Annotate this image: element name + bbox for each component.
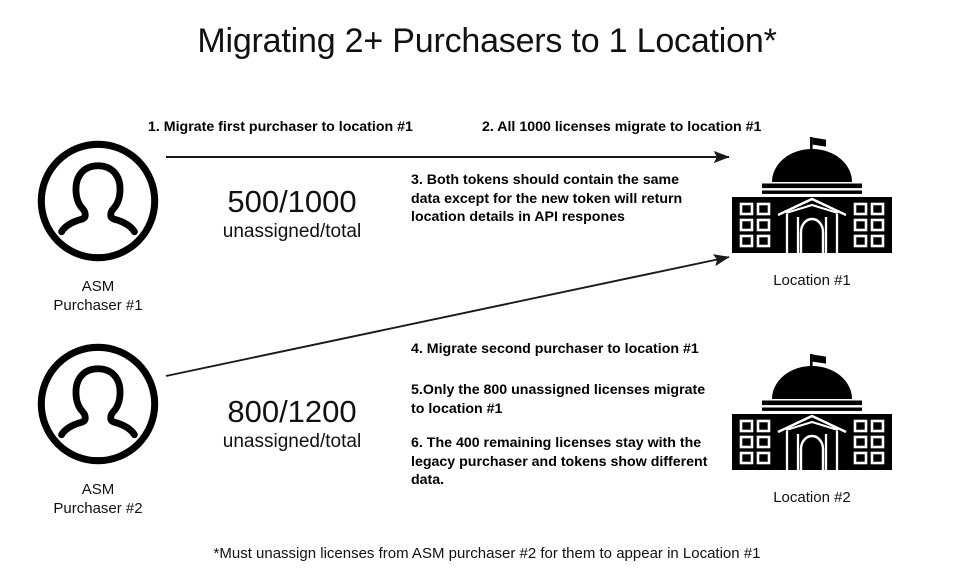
step-3-label: 3. Both tokens should contain the same d…	[411, 171, 696, 227]
diagram-canvas: Migrating 2+ Purchasers to 1 Location* A…	[0, 0, 974, 587]
purchaser-1-license-counts: 500/1000 unassigned/total	[192, 184, 392, 244]
location-2-node: Location #2	[722, 352, 902, 507]
location-1-node: Location #1	[722, 135, 902, 290]
footnote: *Must unassign licenses from ASM purchas…	[0, 545, 974, 562]
government-building-icon	[722, 352, 902, 474]
purchaser-1-node: ASM Purchaser #1	[31, 138, 165, 315]
purchaser-2-label: ASM Purchaser #2	[31, 480, 165, 518]
step-4-label: 4. Migrate second purchaser to location …	[411, 340, 699, 359]
purchaser-1-counts-caption: unassigned/total	[192, 220, 392, 244]
purchaser-1-label: ASM Purchaser #1	[31, 277, 165, 315]
step-5-label: 5.Only the 800 unassigned licenses migra…	[411, 381, 711, 418]
purchaser-1-counts-value: 500/1000	[192, 184, 392, 220]
government-building-icon	[722, 135, 902, 257]
step-6-label: 6. The 400 remaining licenses stay with …	[411, 434, 731, 490]
person-circle-icon	[35, 138, 161, 264]
step-2-label: 2. All 1000 licenses migrate to location…	[482, 118, 761, 137]
step-1-label: 1. Migrate first purchaser to location #…	[148, 118, 413, 137]
page-title: Migrating 2+ Purchasers to 1 Location*	[0, 22, 974, 61]
purchaser-2-node: ASM Purchaser #2	[31, 341, 165, 518]
location-1-label: Location #1	[722, 271, 902, 290]
location-2-label: Location #2	[722, 488, 902, 507]
person-circle-icon	[35, 341, 161, 467]
purchaser-2-license-counts: 800/1200 unassigned/total	[192, 394, 392, 454]
purchaser-2-counts-value: 800/1200	[192, 394, 392, 430]
purchaser-2-counts-caption: unassigned/total	[192, 430, 392, 454]
